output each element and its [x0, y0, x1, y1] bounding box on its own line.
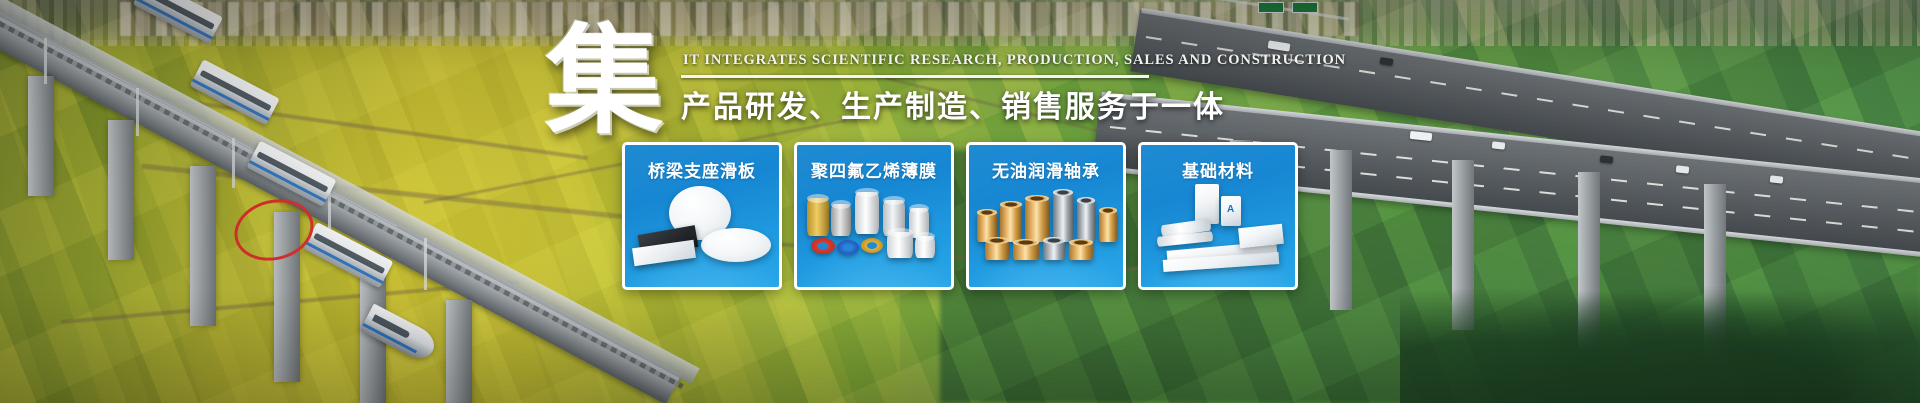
- product-card-oil-free-bearing[interactable]: 无油润滑轴承: [966, 142, 1126, 290]
- bronze-bushing: [1013, 242, 1039, 260]
- film-ring: [861, 238, 883, 253]
- product-card-image-base-materials: A: [1141, 182, 1295, 287]
- steel-bushing: [1053, 192, 1073, 242]
- film-ring: [811, 238, 835, 254]
- product-card-ptfe-film[interactable]: 聚四氟乙烯薄膜: [794, 142, 954, 290]
- film-roll: [887, 232, 913, 258]
- headline-english-tagline: IT INTEGRATES SCIENTIFIC RESEARCH, PRODU…: [681, 52, 1346, 69]
- headline-big-character: 集: [545, 22, 675, 140]
- headline-chinese-tagline: 产品研发、生产制造、销售服务于一体: [681, 82, 1346, 126]
- bronze-bushing: [985, 240, 1009, 260]
- headline-divider: [681, 75, 1149, 78]
- product-card-image-ptfe-rolls: [797, 182, 951, 287]
- product-card-title: 无油润滑轴承: [992, 157, 1100, 182]
- bronze-bushing: [1069, 242, 1093, 260]
- steel-bushing: [1043, 240, 1065, 260]
- product-card-title: 桥梁支座滑板: [648, 157, 756, 182]
- product-card-list: 桥梁支座滑板 聚四氟乙烯薄膜: [622, 142, 1298, 290]
- product-card-bridge-bearing-plate[interactable]: 桥梁支座滑板: [622, 142, 782, 290]
- film-ring: [837, 240, 859, 255]
- product-card-base-material[interactable]: 基础材料 A: [1138, 142, 1298, 290]
- product-card-image-sliding-plates: [625, 182, 779, 287]
- film-roll: [807, 198, 829, 236]
- bronze-bushing: [1099, 210, 1117, 242]
- headline-block: 集 IT INTEGRATES SCIENTIFIC RESEARCH, PRO…: [545, 22, 1346, 140]
- film-roll: [831, 204, 851, 236]
- headline-text-group: IT INTEGRATES SCIENTIFIC RESEARCH, PRODU…: [681, 52, 1346, 126]
- ptfe-disc: [701, 228, 771, 262]
- block-label: A: [1227, 204, 1234, 215]
- hero-banner: 集 IT INTEGRATES SCIENTIFIC RESEARCH, PRO…: [0, 0, 1920, 403]
- bronze-bushing: [1025, 198, 1049, 242]
- product-card-image-bushings: [969, 182, 1123, 287]
- product-card-title: 基础材料: [1182, 157, 1254, 182]
- bronze-bushing: [1000, 204, 1022, 242]
- film-roll: [915, 236, 935, 258]
- product-card-title: 聚四氟乙烯薄膜: [811, 157, 937, 182]
- steel-bushing: [1077, 200, 1095, 242]
- film-roll: [855, 192, 879, 234]
- material-sheet: [1238, 224, 1284, 248]
